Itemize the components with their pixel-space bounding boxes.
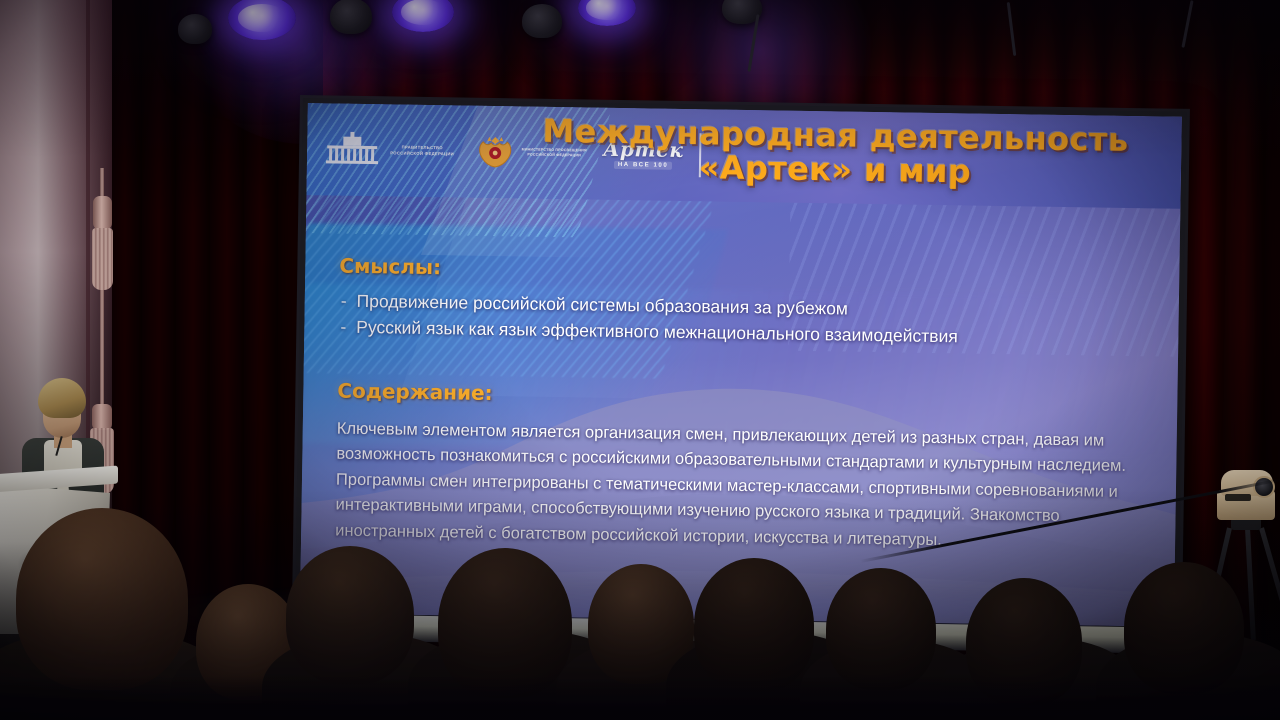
spotlight-fixture-icon: [330, 0, 372, 34]
presenter-hair: [38, 378, 86, 418]
bullet-dash: -: [341, 288, 347, 314]
spotlight-fixture-icon: [522, 4, 562, 38]
slide-header-bar: ПРАВИТЕЛЬСТВО РОССИЙСКОЙ ФЕДЕРАЦИИ МИНИС…: [306, 103, 1181, 209]
audience-head: [694, 558, 814, 692]
conference-hall-scene: ПРАВИТЕЛЬСТВО РОССИЙСКОЙ ФЕДЕРАЦИИ МИНИС…: [0, 0, 1280, 720]
curtain-tassel-knot: [93, 196, 112, 230]
spotlight-fixture-icon: [178, 14, 212, 44]
audience-head: [826, 568, 936, 690]
government-building-icon: [325, 131, 380, 168]
audience-foreground: [0, 490, 1280, 720]
government-logo-caption: ПРАВИТЕЛЬСТВО РОССИЙСКОЙ ФЕДЕРАЦИИ: [385, 145, 459, 158]
audience-head: [286, 546, 414, 684]
audience-head: [16, 508, 188, 690]
curtain-tassel: [92, 228, 113, 290]
foreground-shadow: [0, 676, 1280, 720]
slide-title: Международная деятельность «Артек» и мир: [503, 114, 1168, 192]
section-heading-meanings: Смыслы:: [339, 254, 1149, 291]
audience-head: [1124, 562, 1244, 694]
government-logo: ПРАВИТЕЛЬСТВО РОССИЙСКОЙ ФЕДЕРАЦИИ: [325, 131, 460, 169]
bullet-dash: -: [340, 314, 346, 340]
